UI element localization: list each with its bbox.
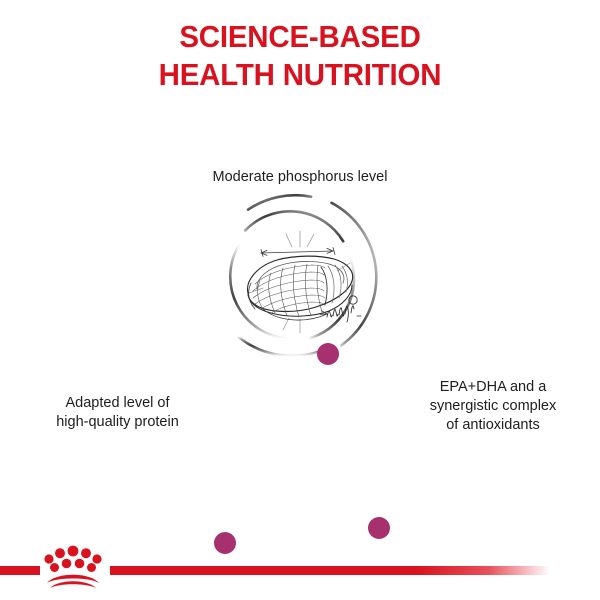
kibble-sketch <box>248 231 361 333</box>
benefit-label-antioxidants: EPA+DHA and a synergistic complex of ant… <box>398 378 588 435</box>
title-line-2: HEALTH NUTRITION <box>15 56 585 94</box>
benefit-label-protein-line-1: Adapted level of <box>20 394 215 413</box>
benefit-dot-antioxidants <box>368 517 390 539</box>
page-title: SCIENCE-BASED HEALTH NUTRITION <box>0 18 600 94</box>
benefit-label-protein-line-2: high-quality protein <box>20 413 215 432</box>
benefit-label-phosphorus-line-1: Moderate phosphorus level <box>0 168 600 187</box>
footer-bar-right <box>110 566 550 575</box>
benefit-dot-protein <box>214 532 236 554</box>
title-line-1: SCIENCE-BASED <box>15 18 585 56</box>
benefit-label-antioxidants-line-3: of antioxidants <box>398 416 588 435</box>
benefit-label-antioxidants-line-1: EPA+DHA and a <box>398 378 588 397</box>
benefit-label-protein: Adapted level of high-quality protein <box>20 394 215 432</box>
royal-canin-crown-icon <box>40 544 106 590</box>
benefit-label-phosphorus: Moderate phosphorus level <box>0 168 600 187</box>
concentric-rings <box>215 195 385 365</box>
footer-bar-left <box>0 566 40 575</box>
benefit-dot-phosphorus <box>317 343 339 365</box>
benefit-label-antioxidants-line-2: synergistic complex <box>398 397 588 416</box>
